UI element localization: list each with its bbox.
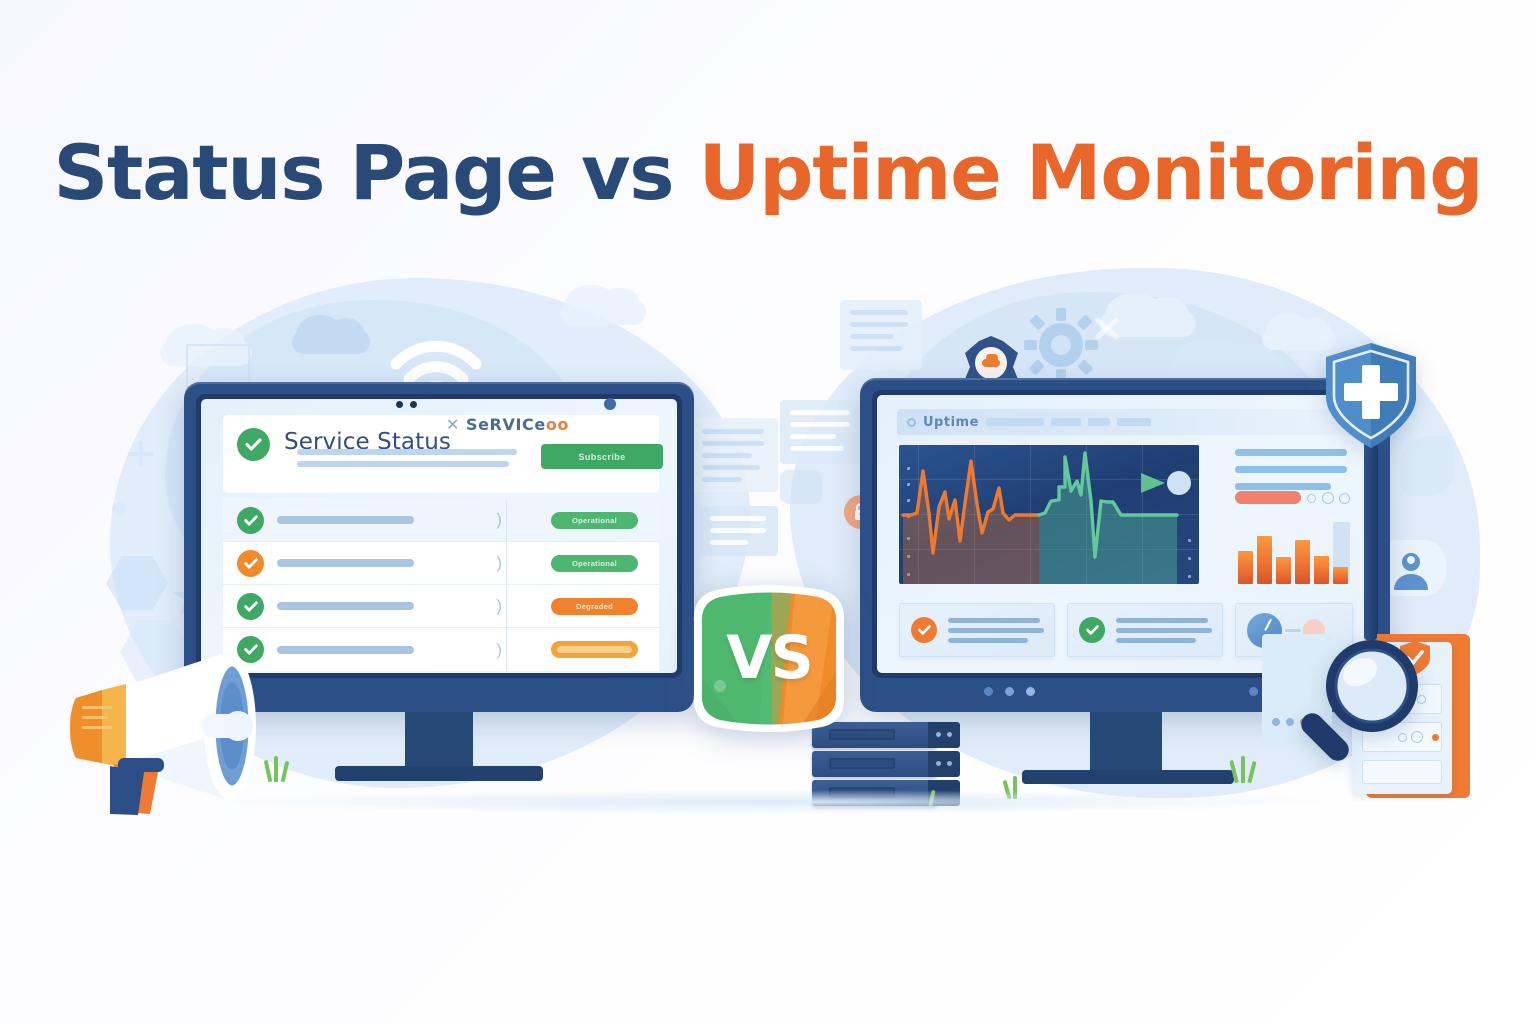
placeholder-line xyxy=(297,449,517,455)
server-led-icon xyxy=(936,732,941,737)
illustration-canvas: Service Status ✕SeRVICeoo Subscribe ) Op… xyxy=(0,0,1536,1024)
status-led-icon xyxy=(604,398,616,410)
page-title-secondary: Uptime Monitoring xyxy=(699,128,1483,217)
status-dot xyxy=(1432,734,1439,741)
row-meta: ) xyxy=(496,510,502,530)
check-circle-icon xyxy=(1079,617,1105,643)
plus-decoration xyxy=(139,441,143,467)
background-document-card xyxy=(780,400,864,464)
magnifier-icon xyxy=(1288,630,1428,780)
cloud-decoration xyxy=(560,300,646,325)
row-divider xyxy=(506,499,507,541)
circle-outline-icon xyxy=(1322,492,1334,504)
circle-marker xyxy=(1167,471,1191,495)
table-row[interactable]: ) Degraded xyxy=(223,585,659,628)
table-row[interactable]: ) Operational xyxy=(223,499,659,542)
ground-shadow xyxy=(200,790,1350,814)
sidebar-bar xyxy=(1276,557,1291,584)
background-document-card xyxy=(700,506,778,556)
sidebar-bar xyxy=(1295,540,1310,584)
badge-inner-highlight xyxy=(557,646,632,653)
sidebar-status-pill xyxy=(1235,491,1301,504)
background-document-card xyxy=(692,418,778,492)
chart-series-layer xyxy=(899,445,1199,584)
sidebar-bar xyxy=(1257,536,1272,584)
status-page-brand: ✕SeRVICeoo xyxy=(446,415,569,434)
sidebar-bar xyxy=(1238,551,1253,584)
server-drive-slot xyxy=(829,758,895,769)
row-meta: ) xyxy=(496,596,502,616)
background-document-card xyxy=(840,300,922,370)
monitor-base xyxy=(335,766,543,781)
chin-led-icon xyxy=(1005,687,1014,696)
chin-led-icon xyxy=(984,687,993,696)
topbar-placeholder xyxy=(1117,418,1151,426)
server-led-icon xyxy=(936,761,941,766)
circle-outline-icon xyxy=(907,418,916,427)
topbar-placeholder xyxy=(1088,418,1110,426)
chin-led-icon xyxy=(1026,687,1035,696)
check-circle-icon xyxy=(237,428,270,461)
chin-led-icon xyxy=(1249,687,1258,696)
monitor-neck xyxy=(405,712,473,768)
shield-pole xyxy=(1364,430,1377,640)
card-text-lines xyxy=(1116,618,1212,643)
dashboard-topbar-label: Uptime xyxy=(923,415,979,430)
circle-outline-icon xyxy=(1307,494,1316,503)
row-label-placeholder xyxy=(277,602,414,610)
check-circle-icon xyxy=(237,550,264,577)
dashboard-sidebar xyxy=(1235,445,1353,584)
dashboard-topbar: Uptime xyxy=(897,409,1353,435)
status-badge: Operational xyxy=(551,555,638,572)
row-divider xyxy=(506,585,507,627)
camera-dot-icon xyxy=(410,401,417,408)
status-page-screen: Service Status ✕SeRVICeoo Subscribe ) Op… xyxy=(201,399,677,673)
row-meta: ) xyxy=(496,640,502,660)
gear-icon xyxy=(1024,308,1098,382)
circle-outline-icon xyxy=(1339,493,1350,504)
brand-mark-icon: ✕ xyxy=(446,415,460,434)
grass-decoration xyxy=(1241,756,1245,783)
check-circle-icon xyxy=(237,507,264,534)
play-triangle-marker xyxy=(1141,473,1165,493)
page-title: Status Page vs Uptime Monitoring xyxy=(0,128,1536,217)
row-meta: ) xyxy=(496,553,502,573)
row-divider xyxy=(506,542,507,584)
grass-decoration xyxy=(274,756,278,782)
topbar-placeholder xyxy=(986,418,1044,426)
brand-text: SeRVICe xyxy=(466,415,546,434)
sidebar-bar xyxy=(1333,567,1348,584)
vs-badge: VS xyxy=(686,582,852,734)
panel-line xyxy=(1272,718,1280,726)
uptime-response-chart xyxy=(899,445,1199,584)
server-rack-side xyxy=(928,722,960,748)
sidebar-text-line xyxy=(1235,466,1347,473)
monitor-neck xyxy=(1090,712,1162,772)
series-recovery-fill xyxy=(1039,453,1177,584)
server-rack-side xyxy=(928,751,960,777)
shield-cross-icon xyxy=(1322,340,1420,452)
placeholder-line xyxy=(297,461,509,467)
chat-bubble-decoration xyxy=(780,470,822,504)
row-label-placeholder xyxy=(277,559,414,567)
dashboard-card-incident[interactable] xyxy=(899,603,1055,657)
status-badge: Operational xyxy=(551,512,638,529)
subscribe-button[interactable]: Subscribe xyxy=(541,444,663,469)
server-rack-unit xyxy=(812,751,937,777)
megaphone-icon xyxy=(62,640,302,815)
row-label-placeholder xyxy=(277,516,414,524)
status-badge: Degraded xyxy=(551,598,638,615)
brand-tail: oo xyxy=(546,415,569,434)
table-row[interactable]: ) Operational xyxy=(223,542,659,585)
monitor-base xyxy=(1022,770,1234,784)
dashboard-card-healthy[interactable] xyxy=(1067,603,1223,657)
topbar-placeholder xyxy=(1051,418,1081,426)
cloud-decoration xyxy=(292,330,370,354)
dot-decoration xyxy=(112,502,126,516)
card-text-lines xyxy=(948,618,1044,643)
server-led-icon xyxy=(947,732,952,737)
row-divider xyxy=(506,628,507,671)
camera-dot-icon xyxy=(396,401,403,408)
page-title-primary: Status Page vs xyxy=(54,128,674,217)
sidebar-text-line xyxy=(1235,483,1331,490)
server-led-icon xyxy=(947,761,952,766)
check-circle-icon xyxy=(911,617,937,643)
sidebar-bar xyxy=(1314,556,1329,584)
check-circle-icon xyxy=(237,593,264,620)
vs-label: VS xyxy=(686,582,852,734)
